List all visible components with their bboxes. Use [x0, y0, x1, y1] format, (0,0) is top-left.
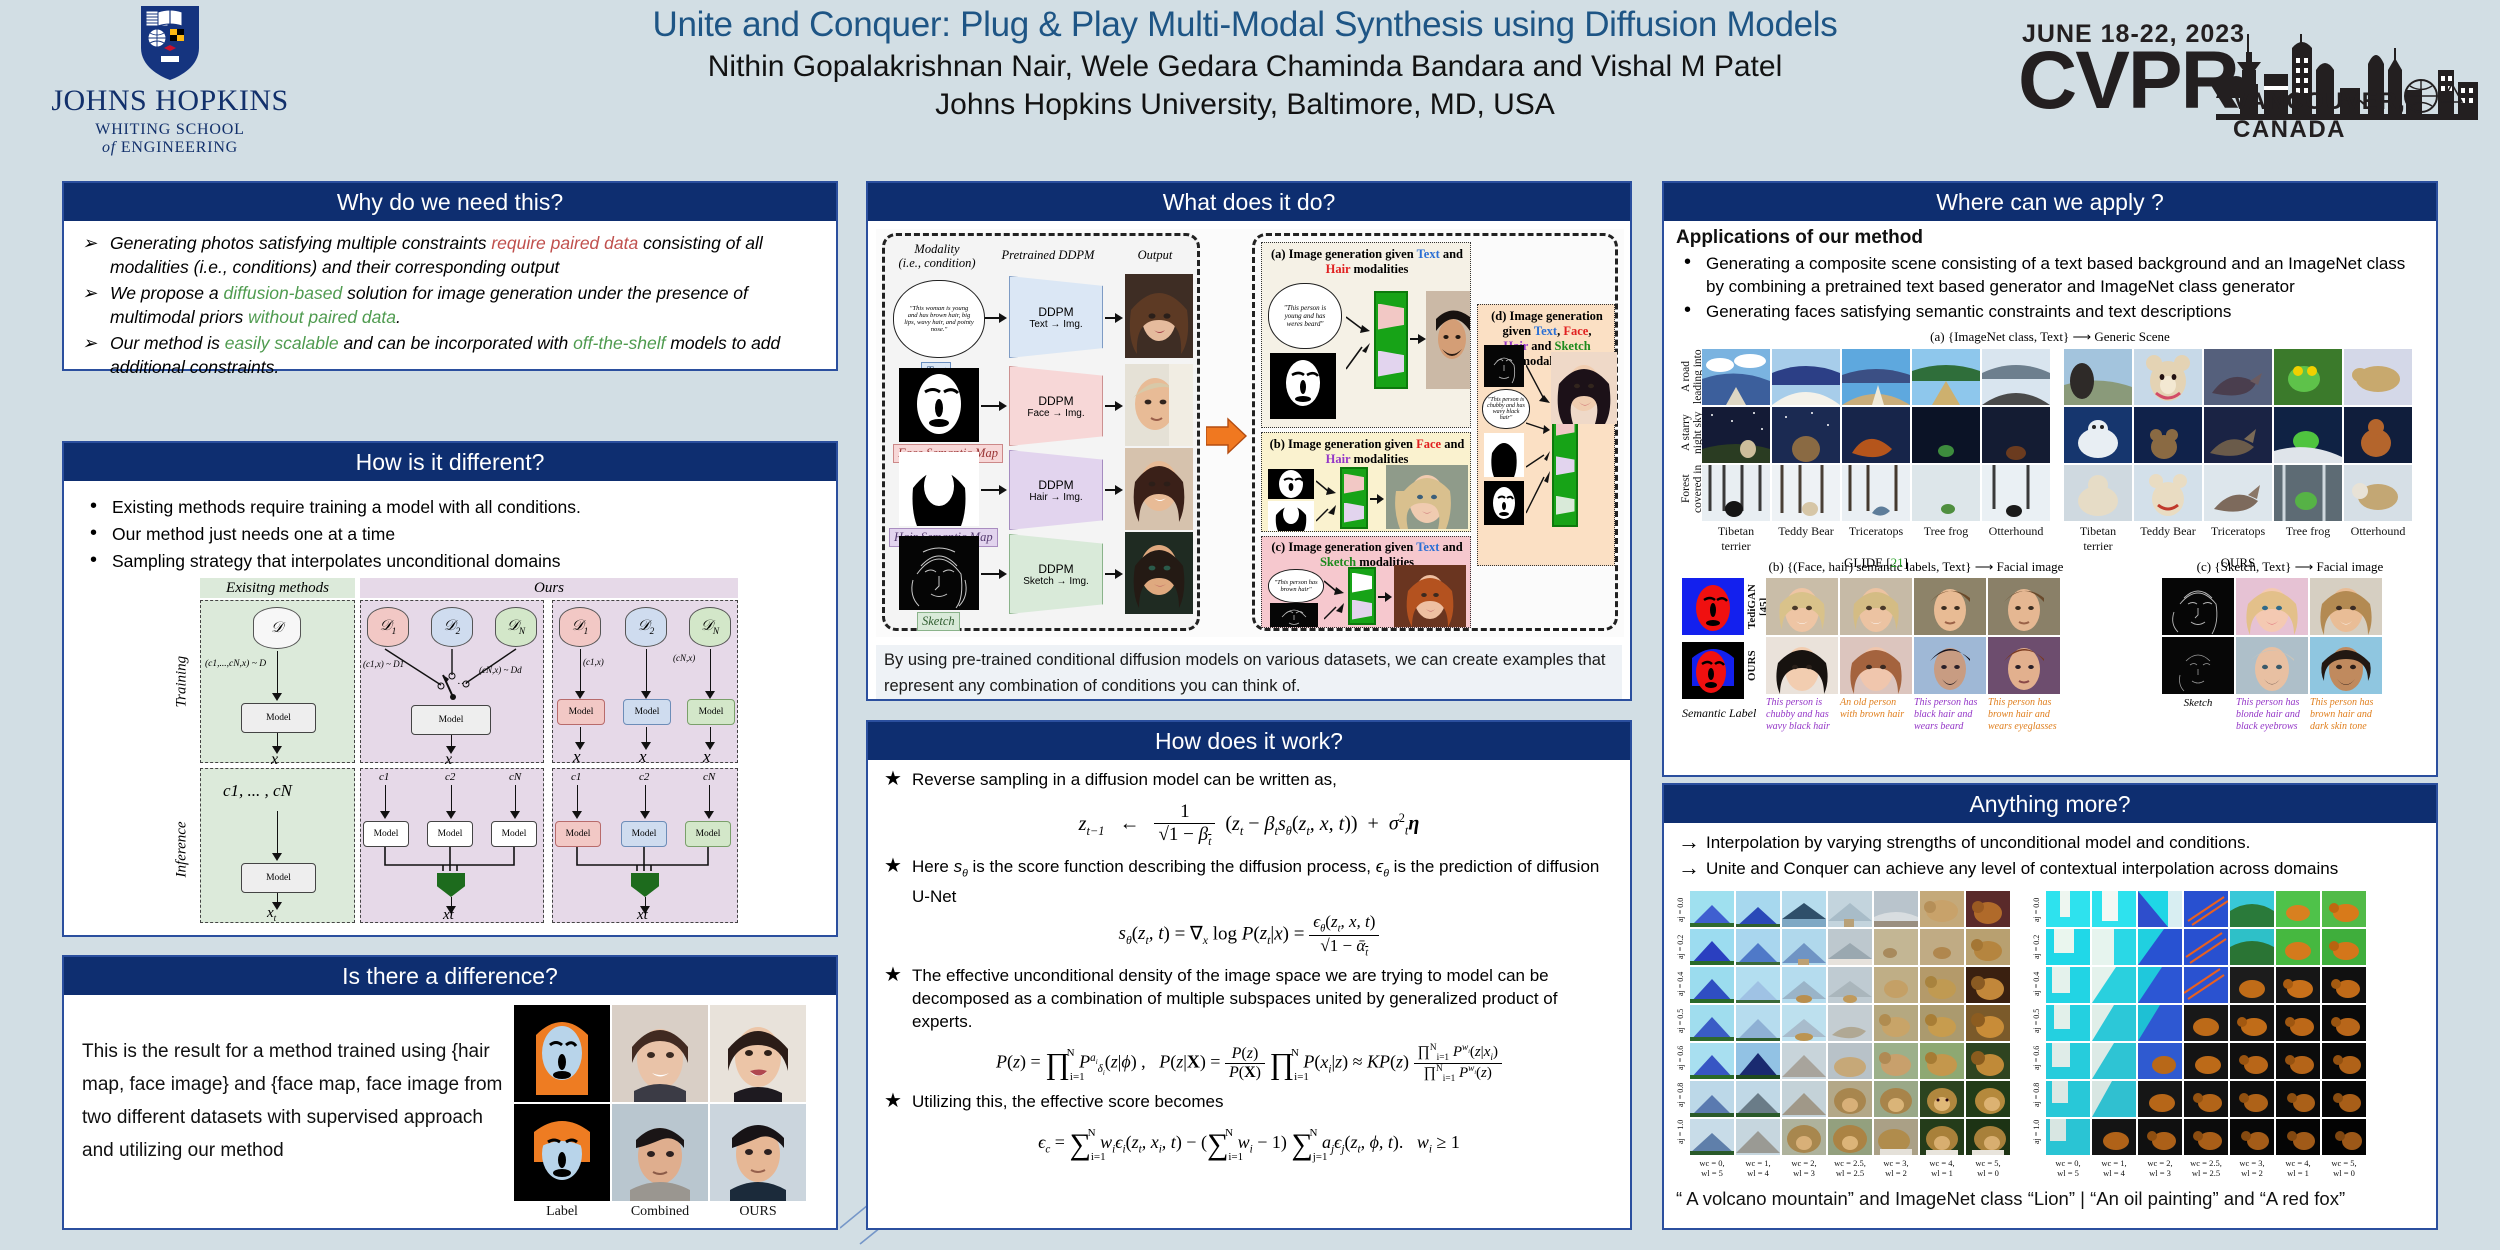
il-5-2 — [1736, 1043, 1780, 1079]
panel-c-cloud: "This person has brown hair" — [1268, 569, 1324, 603]
interp-left-images: wc = 0,wl = 5 wc = 1,wl = 4 wc = 2,wl = … — [1690, 891, 2010, 1178]
ir-7-2 — [2092, 1119, 2136, 1155]
modality-header-line1: Modality — [914, 242, 959, 256]
figure-header-modality: Modality (i.e., condition) — [893, 242, 981, 270]
glide-col-4: Tree frog — [1912, 524, 1980, 554]
image-ours-female — [710, 1005, 806, 1102]
why-b2-highlight: diffusion-based — [224, 283, 343, 303]
arrowhead-4 — [575, 691, 585, 699]
il-6-6 — [1920, 1081, 1964, 1117]
panel-where-can-we-apply: Where can we apply ? Applications of our… — [1662, 181, 2438, 777]
image-combined-female — [612, 1005, 708, 1102]
panel-b-out-arrow — [1370, 493, 1384, 505]
arrow-sketch-ddpm — [981, 568, 1007, 580]
arrow-D-to-model — [277, 651, 278, 695]
ir-3-1 — [2046, 967, 2090, 1003]
il-3-3 — [1782, 967, 1826, 1003]
ours-col-4: Tree frog — [2274, 524, 2342, 554]
ir-1-4 — [2184, 891, 2228, 927]
interp-r-row-5: aj = 0.6 — [2032, 1039, 2046, 1076]
panel-d-output — [1551, 352, 1617, 424]
bowtie-d-4 — [1556, 496, 1575, 515]
ours-col-2: Teddy Bear — [2134, 524, 2202, 554]
ir-7-6 — [2276, 1119, 2320, 1155]
glide-img-2-5 — [1982, 407, 2050, 463]
svg-text:···: ··· — [457, 678, 468, 690]
figa-row-label-1: A road leading into mountains — [1680, 349, 1700, 405]
equation-3: P(z) = ∏i=1N Paiδi(z|ϕ) , P(z|X) = P(z)P… — [882, 1043, 1616, 1084]
panel-a-title: (a) Image generation given Text andHair … — [1266, 247, 1468, 277]
difference-result-figure: Label Combined OURS — [514, 1005, 806, 1220]
more-caption: “ A volcano mountain” and ImageNet class… — [1676, 1188, 2424, 1210]
ours-col-labels: Tibetan terrier Teddy Bear Triceratops T… — [2064, 524, 2412, 554]
ours-img-2-5 — [2344, 407, 2412, 463]
ddpm-face-block: DDPM Face → Img. — [1009, 366, 1103, 446]
ir-1-1 — [2046, 891, 2090, 927]
interp-r-row-6: aj = 0.8 — [2032, 1076, 2046, 1113]
glide-img-2-3 — [1842, 407, 1910, 463]
hair-semantic-input — [899, 452, 979, 526]
il-6-2 — [1736, 1081, 1780, 1117]
model-box-existing: Model — [241, 703, 316, 733]
ddpm-label-text: DDPM — [1038, 305, 1073, 319]
ours-col-5: Otterhound — [2344, 524, 2412, 554]
bowtie-b-1 — [1344, 474, 1364, 494]
ir-3-4 — [2184, 967, 2228, 1003]
ir-1-6 — [2276, 891, 2320, 927]
figc-img-1-3 — [2310, 578, 2382, 635]
model-box-ours-shared: Model — [411, 705, 491, 735]
arrow-d1-model — [580, 649, 581, 693]
ir-2-7 — [2322, 929, 2366, 965]
ours-img-1-3 — [2204, 349, 2272, 405]
ir-4-5 — [2230, 1005, 2274, 1041]
figb-img-1-1 — [1766, 578, 1838, 635]
ddpm-mapping-face: Face → Img. — [1027, 408, 1084, 419]
ddpm-label-hair: DDPM — [1038, 478, 1073, 492]
panel-b-title: (b) Image generation given Face andHair … — [1266, 437, 1468, 467]
glide-img-2-4 — [1912, 407, 1980, 463]
figb-img-2-3 — [1914, 637, 1986, 694]
interp-l-row-6: aj = 0.8 — [1676, 1076, 1690, 1113]
train-label-ours-1: (c1,x) ~ D1 — [363, 659, 404, 669]
glide-img-3-1 — [1702, 465, 1770, 521]
figb-caption-4: This person has brown hair and wears eye… — [1988, 697, 2060, 733]
dataset-D2-a: 𝒟2 — [431, 607, 473, 647]
howwork-bullet-1: Reverse sampling in a diffusion model ca… — [882, 768, 1616, 791]
glide-images — [1702, 349, 2050, 521]
ir-2-5 — [2230, 929, 2274, 965]
ours-img-3-5 — [2344, 465, 2412, 521]
panel-b-face-input — [1268, 469, 1314, 499]
il-2-3 — [1782, 929, 1826, 965]
panel-d-hair-input — [1484, 433, 1524, 477]
ir-4-7 — [2322, 1005, 2366, 1041]
arrowhead-10 — [272, 853, 282, 861]
il-1-2 — [1736, 891, 1780, 927]
ir-1-2 — [2092, 891, 2136, 927]
panel-a-out-arrow — [1410, 333, 1426, 345]
ddpm-text-block: DDPM Text → Img. — [1009, 276, 1103, 358]
ir-2-3 — [2138, 929, 2182, 965]
ir-6-4 — [2184, 1081, 2228, 1117]
cvpr-city: VANCOUVER, CANADA — [2233, 88, 2478, 144]
ir-5-4 — [2184, 1043, 2228, 1079]
figure-col-header-existing: Exisitng methods — [200, 578, 355, 598]
figure-a-ours-grid: Tibetan terrier Teddy Bear Triceratops T… — [2064, 349, 2412, 571]
ir-6-7 — [2322, 1081, 2366, 1117]
panel-a-output — [1426, 291, 1470, 389]
arrow-hair-ddpm — [981, 484, 1007, 496]
figure-a-glide-grid: Tibetan terrier Teddy Bear Triceratops T… — [1702, 349, 2050, 571]
howwork-bullet-4: Utilizing this, the effective score beco… — [882, 1090, 1616, 1113]
il-6-1 — [1690, 1081, 1734, 1117]
why-bullet-1: Generating photos satisfying multiple co… — [80, 231, 820, 279]
ddpm-mapping-text: Text → Img. — [1029, 319, 1082, 330]
il-6-7 — [1966, 1081, 2010, 1117]
output-xt-a: xt — [443, 907, 454, 924]
ir-3-2 — [2092, 967, 2136, 1003]
ir-2-6 — [2276, 929, 2320, 965]
ir-7-4 — [2184, 1119, 2228, 1155]
why-b2-highlight2: without paired data — [248, 307, 396, 327]
different-bullet-3: Sampling strategy that interpolates unco… — [82, 549, 818, 574]
glide-img-1-2 — [1772, 349, 1840, 405]
panel-whatdo-heading: What does it do? — [868, 183, 1630, 221]
arrow-c1-a — [385, 785, 386, 813]
cond-c1-b: c1 — [571, 771, 581, 783]
glide-img-3-3 — [1842, 465, 1910, 521]
ir-col-4: wc = 2.5,wl = 2.5 — [2184, 1158, 2228, 1178]
ir-7-3 — [2138, 1119, 2182, 1155]
il-2-2 — [1736, 929, 1780, 965]
il-5-1 — [1690, 1043, 1734, 1079]
fig-b-input-label: Semantic Label — [1682, 706, 1756, 721]
why-bullet-list: Generating photos satisfying multiple co… — [80, 231, 820, 379]
cond-cN-b: cN — [703, 771, 715, 783]
why-b3-highlight2: off-the-shelf — [573, 333, 665, 353]
fig-b-images — [1766, 578, 2060, 694]
il-7-3 — [1782, 1119, 1826, 1155]
model-inf-b1: Model — [555, 821, 601, 847]
equation-1: zt−1 ← 1 √1 − βt (zt − βtsθ(zt, x, t)) +… — [882, 801, 1616, 849]
arrow-c1-b — [577, 785, 578, 813]
arrow-c2-a — [451, 785, 452, 813]
interp-l-row-5: aj = 0.6 — [1676, 1039, 1690, 1076]
glide-col-2: Teddy Bear — [1772, 524, 1840, 554]
howwork-bullets: Reverse sampling in a diffusion model ca… — [882, 768, 1616, 791]
ours-img-3-1 — [2064, 465, 2132, 521]
glide-col-3: Triceratops — [1842, 524, 1910, 554]
ir-col-5: wc = 3,wl = 2 — [2230, 1158, 2274, 1178]
dataset-DN-a: 𝒟N — [495, 607, 537, 647]
glide-img-3-4 — [1912, 465, 1980, 521]
cvpr-logo: JUNE 18-22, 2023 CVPR — [2018, 18, 2478, 146]
out-x-2: x — [639, 747, 647, 767]
interp-r-row-7: aj = 1.0 — [2032, 1113, 2046, 1150]
cond-c1-a: c1 — [379, 771, 389, 783]
jhu-department-prefix: of — [102, 139, 116, 156]
panel-b-hair-input — [1268, 501, 1314, 531]
arrow-d2-model — [646, 649, 647, 693]
interp-r-row-2: aj = 0.2 — [2032, 928, 2046, 965]
ours-images — [2064, 349, 2412, 521]
interp-right-images: wc = 0,wl = 5 wc = 1,wl = 4 wc = 2,wl = … — [2046, 891, 2366, 1178]
figc-img-2-1 — [2162, 637, 2234, 694]
il-7-7 — [1966, 1119, 2010, 1155]
ours-img-3-4 — [2274, 465, 2342, 521]
glide-img-3-2 — [1772, 465, 1840, 521]
ours-img-1-5 — [2344, 349, 2412, 405]
il-6-5 — [1874, 1081, 1918, 1117]
glide-col-5: Otterhound — [1982, 524, 2050, 554]
ours-col-3: Triceratops — [2204, 524, 2272, 554]
ir-col-1: wc = 0,wl = 5 — [2046, 1158, 2090, 1178]
ddpm-mapping-sketch: Sketch → Img. — [1023, 576, 1089, 587]
bowtie-b-2 — [1344, 503, 1364, 523]
ir-3-3 — [2138, 967, 2182, 1003]
ir-4-3 — [2138, 1005, 2182, 1041]
figure-row-label-inference: Inference — [174, 806, 191, 878]
more-bullet-2: Unite and Conquer can achieve any level … — [1676, 857, 2424, 881]
model-inf-b3: Model — [685, 821, 731, 847]
fig-c-grid: Sketch This person has blonde hair and b… — [2162, 578, 2382, 733]
figc-img-2-3 — [2310, 637, 2382, 694]
panel-why-heading: Why do we need this? — [64, 183, 836, 221]
ir-7-1 — [2046, 1119, 2090, 1155]
ir-col-3: wc = 2,wl = 3 — [2138, 1158, 2182, 1178]
difference-image-grid — [514, 1005, 806, 1201]
panel-c-output — [1394, 565, 1466, 627]
il-3-5 — [1874, 967, 1918, 1003]
interp-left-row-labels: aj = 0.0 aj = 0.2 aj = 0.4 aj = 0.5 aj =… — [1676, 891, 1690, 1178]
face-semantic-input — [899, 368, 979, 442]
interpolation-grid-left: aj = 0.0 aj = 0.2 aj = 0.4 aj = 0.5 aj =… — [1676, 891, 2010, 1178]
bowtie-a-1 — [1378, 304, 1404, 330]
more-bullets: Interpolation by varying strengths of un… — [1676, 831, 2424, 881]
panel-more-body: Interpolation by varying strengths of un… — [1664, 823, 2436, 1218]
dataset-D1-a: 𝒟1 — [367, 607, 409, 647]
output-x-existing: x — [271, 751, 278, 769]
ir-6-1 — [2046, 1081, 2090, 1117]
il-5-6 — [1920, 1043, 1964, 1079]
il-3-1 — [1690, 967, 1734, 1003]
interp-right-row-labels: aj = 0.0 aj = 0.2 aj = 0.4 aj = 0.5 aj =… — [2032, 891, 2046, 1178]
cond-c2-b: c2 — [639, 771, 649, 783]
figure-a-body: A road leading into mountains A starry n… — [1676, 349, 2424, 549]
figc-caption-2: This person has brown hair and dark skin… — [2310, 697, 2382, 733]
figure-header-output: Output — [1117, 248, 1193, 263]
fig-c-images — [2162, 578, 2382, 694]
il-4-2 — [1736, 1005, 1780, 1041]
arrow-ddpm-out-4 — [1105, 568, 1123, 580]
figb-img-1-3 — [1914, 578, 1986, 635]
switch-wiring: ··· — [361, 645, 545, 707]
ir-1-5 — [2230, 891, 2274, 927]
panel-a-hair-input — [1270, 353, 1336, 419]
il-5-3 — [1782, 1043, 1826, 1079]
apply-subheading: Applications of our method — [1676, 227, 2424, 249]
interp-l-row-4: aj = 0.5 — [1676, 1002, 1690, 1039]
ir-5-3 — [2138, 1043, 2182, 1079]
panel-different-body: Existing methods require training a mode… — [64, 481, 836, 923]
fig-b-captions: This person is chubby and has wavy black… — [1766, 697, 2060, 733]
il-2-5 — [1874, 929, 1918, 965]
il-1-1 — [1690, 891, 1734, 927]
panel-a-text-hair: (a) Image generation given Text andHair … — [1261, 242, 1471, 428]
il-4-6 — [1920, 1005, 1964, 1041]
il-6-4 — [1828, 1081, 1872, 1117]
model-box-green: Model — [687, 699, 735, 725]
panel-is-there-a-difference: Is there a difference? This is the resul… — [62, 955, 838, 1230]
figa-row-label-2: A starry night sky — [1680, 405, 1700, 461]
out-x-3: x — [703, 747, 711, 767]
glide-img-1-5 — [1982, 349, 2050, 405]
inference-ours-shared-cell: c1 c2 cN Model Model Model — [360, 768, 544, 923]
figure-a-row-labels: A road leading into mountains A starry n… — [1680, 349, 1700, 519]
output-image-3 — [1125, 448, 1193, 530]
arrow-ddpm-out-3 — [1105, 484, 1123, 496]
figure-bc-body: Semantic Label TediGAN [45] OURS — [1676, 578, 2424, 728]
il-4-4 — [1828, 1005, 1872, 1041]
poster-root: JOHNS HOPKINS WHITING SCHOOL of ENGINEER… — [0, 0, 2500, 1250]
howwork-b2-mid: is the score function describing the dif… — [968, 857, 1376, 876]
interp-r-row-3: aj = 0.4 — [2032, 965, 2046, 1002]
ir-2-4 — [2184, 929, 2228, 965]
il-1-4 — [1828, 891, 1872, 927]
train-label-cNx: (cN,x) — [673, 653, 695, 663]
arrow-cond-model — [277, 811, 278, 855]
ir-4-6 — [2276, 1005, 2320, 1041]
il-5-7 — [1966, 1043, 2010, 1079]
il-7-4 — [1828, 1119, 1872, 1155]
apply-bullet-2: Generating faces satisfying semantic con… — [1676, 300, 2424, 323]
arrowhead-14 — [510, 811, 520, 819]
fig-b-row-ours: OURS — [1746, 637, 1758, 694]
ir-2-2 — [2092, 929, 2136, 965]
panel-how-is-it-different: How is it different? Existing methods re… — [62, 441, 838, 937]
ir-col-7: wc = 5,wl = 0 — [2322, 1158, 2366, 1178]
panel-a-cloud: "This person is young and has weres bear… — [1268, 283, 1342, 349]
whatdo-caption: By using pre-trained conditional diffusi… — [876, 645, 1622, 699]
il-col-4: wc = 2.5,wl = 2.5 — [1828, 1158, 1872, 1178]
output-x-ours-shared: x — [445, 751, 452, 769]
jhu-shield-icon — [139, 4, 201, 82]
panel-b-output — [1386, 465, 1468, 529]
model-inf-a1: Model — [363, 821, 409, 847]
il-1-5 — [1874, 891, 1918, 927]
ir-4-2 — [2092, 1005, 2136, 1041]
image-label-male — [514, 1104, 610, 1201]
figure-label-ours: OURS — [710, 1204, 806, 1220]
il-5-4 — [1828, 1043, 1872, 1079]
glide-img-1-3 — [1842, 349, 1910, 405]
panel-c-arrows — [1324, 569, 1346, 627]
fig-c-captions: Sketch This person has blonde hair and b… — [2162, 697, 2382, 733]
train-label-c1x: (c1,x) — [583, 657, 604, 667]
il-col-3: wc = 2,wl = 3 — [1782, 1158, 1826, 1178]
ir-col-6: wc = 4,wl = 1 — [2276, 1158, 2320, 1178]
il-7-2 — [1736, 1119, 1780, 1155]
il-3-7 — [1966, 967, 2010, 1003]
dataset-D1-b: 𝒟1 — [559, 607, 601, 647]
apply-bullet-1: Generating a composite scene consisting … — [1676, 252, 2424, 298]
ir-7-5 — [2230, 1119, 2274, 1155]
figa-row-label-3: Forest covered in snow — [1680, 461, 1700, 517]
figure-label-label: Label — [514, 1204, 610, 1220]
cvpr-name: CVPR — [2018, 40, 2238, 122]
arrow-cN-a — [515, 785, 516, 813]
il-col-5: wc = 3,wl = 2 — [1874, 1158, 1918, 1178]
figure-col-header-ours: Ours — [360, 578, 738, 598]
different-bullet-1: Existing methods require training a mode… — [82, 495, 818, 520]
ir-5-5 — [2230, 1043, 2274, 1079]
bowtie-a-2 — [1378, 351, 1404, 377]
panel-different-heading: How is it different? — [64, 443, 836, 481]
modality-label-sketch: Sketch — [917, 612, 960, 631]
why-b1-highlight: require paired data — [491, 233, 638, 253]
ir-5-7 — [2322, 1043, 2366, 1079]
ir-6-6 — [2276, 1081, 2320, 1117]
interpolation-grid-right: aj = 0.0 aj = 0.2 aj = 0.4 aj = 0.5 aj =… — [2032, 891, 2366, 1178]
fig-b-grid: This person is chubby and has wavy black… — [1766, 578, 2060, 733]
arrow-cN-b — [709, 785, 710, 813]
ours-img-1-1 — [2064, 349, 2132, 405]
train-existing-cell: 𝒟 (c1,...,cN,x) ~ D Model x — [200, 600, 355, 763]
ddpm-label-face: DDPM — [1038, 394, 1073, 408]
arrow-ddpm-out-2 — [1105, 400, 1123, 412]
poster-header: JOHNS HOPKINS WHITING SCHOOL of ENGINEER… — [0, 0, 2500, 168]
howwork-bullets-3: The effective unconditional density of t… — [882, 964, 1616, 1033]
figc-img-2-2 — [2236, 637, 2308, 694]
figure-header-ddpm: Pretrained DDPM — [993, 248, 1103, 263]
howwork-bullets-4: Utilizing this, the effective score beco… — [882, 1090, 1616, 1113]
interp-l-row-3: aj = 0.4 — [1676, 965, 1690, 1002]
il-4-1 — [1690, 1005, 1734, 1041]
glide-col-1: Tibetan terrier — [1702, 524, 1770, 554]
ir-4-4 — [2184, 1005, 2228, 1041]
ddpm-mapping-hair: Hair → Img. — [1029, 492, 1082, 503]
glide-img-1-4 — [1912, 349, 1980, 405]
panel-apply-heading: Where can we apply ? — [1664, 183, 2436, 221]
combination-results-group: (a) Image generation given Text andHair … — [1252, 233, 1618, 631]
panel-c-text-sketch: (c) Image generation given Text andSketc… — [1261, 536, 1471, 628]
panel-howwork-heading: How does it work? — [868, 722, 1630, 760]
il-1-6 — [1920, 891, 1964, 927]
arrow-dn-model — [710, 649, 711, 693]
inference-ours-separate-cell: c1 c2 cN Model Model Model — [552, 768, 738, 923]
output-xt-existing: xt — [267, 905, 276, 924]
howwork-bullets-2: Here sθ is the score function describing… — [882, 855, 1616, 908]
whatdo-figure: Modality (i.e., condition) Pretrained DD… — [876, 229, 1624, 637]
panel-what-does-it-do: What does it do? Modality (i.e., conditi… — [866, 181, 1632, 701]
glide-img-1-1 — [1702, 349, 1770, 405]
il-col-7: wc = 5,wl = 0 — [1966, 1158, 2010, 1178]
figure-a-title: (a) {ImageNet class, Text} ⟶ Generic Sce… — [1676, 329, 2424, 345]
il-4-7 — [1966, 1005, 2010, 1041]
interp-l-row-1: aj = 0.0 — [1676, 891, 1690, 928]
panel-b-arrows — [1316, 467, 1338, 531]
il-7-6 — [1920, 1119, 1964, 1155]
difference-figure-labels: Label Combined OURS — [514, 1204, 806, 1220]
sketch-input — [899, 536, 979, 610]
figure-a-method-glide: GLIDE [21] — [1702, 555, 2050, 571]
poster-affiliation: Johns Hopkins University, Baltimore, MD,… — [480, 86, 2010, 124]
difference-description: This is the result for a method trained … — [82, 1035, 512, 1167]
panel-more-heading: Anything more? — [1664, 785, 2436, 823]
why-b2-post2: . — [396, 307, 401, 327]
ours-img-1-4 — [2274, 349, 2342, 405]
